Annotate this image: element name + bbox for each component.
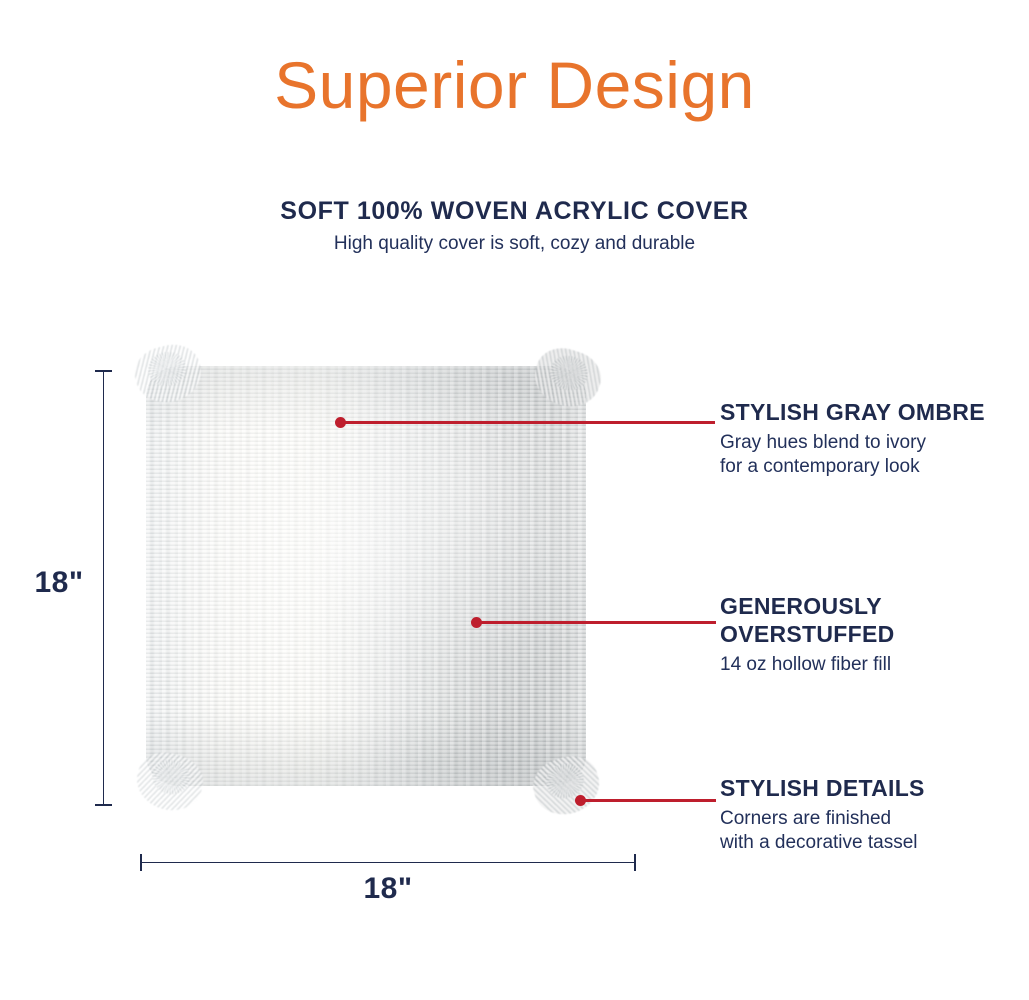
infographic-page: Superior Design SOFT 100% WOVEN ACRYLIC … [0, 0, 1029, 1000]
callout-description-line: for a contemporary look [720, 455, 1020, 479]
callout-leader-line-3 [581, 799, 716, 802]
pillow-body [146, 366, 586, 786]
callout-title: GENEROUSLY OVERSTUFFED [720, 592, 1020, 648]
callout-gray-ombre: STYLISH GRAY OMBRE Gray hues blend to iv… [720, 398, 1020, 479]
callout-point-dot [335, 417, 346, 428]
callout-overstuffed: GENEROUSLY OVERSTUFFED 14 oz hollow fibe… [720, 592, 1020, 677]
width-dimension-line [140, 862, 636, 863]
callout-description: Corners are finished with a decorative t… [720, 807, 1020, 855]
width-dimension-label: 18" [140, 872, 636, 906]
callout-leader-line-1 [341, 421, 715, 424]
height-dimension-label: 18" [24, 566, 94, 600]
callout-description-line: with a decorative tassel [720, 831, 1020, 855]
callout-point-dot [575, 795, 586, 806]
callout-description-line: Gray hues blend to ivory [720, 431, 1020, 455]
product-image [126, 330, 606, 830]
callout-leader-line-2 [477, 621, 716, 624]
height-dimension-line [103, 370, 104, 806]
callout-description: Gray hues blend to ivory for a contempor… [720, 431, 1020, 479]
feature-description: High quality cover is soft, cozy and dur… [0, 233, 1029, 256]
callout-description-line: Corners are finished [720, 807, 1020, 831]
pillow-shading [146, 366, 586, 786]
pillow-weave-texture [146, 366, 586, 786]
page-title: Superior Design [0, 52, 1029, 118]
callout-point-dot [471, 617, 482, 628]
callout-description-line: 14 oz hollow fiber fill [720, 653, 1020, 677]
pillow-rib-texture [146, 366, 586, 786]
callout-title: STYLISH DETAILS [720, 774, 1020, 802]
callout-description: 14 oz hollow fiber fill [720, 653, 1020, 677]
callout-title: STYLISH GRAY OMBRE [720, 398, 1020, 426]
callout-stylish-details: STYLISH DETAILS Corners are finished wit… [720, 774, 1020, 855]
feature-headline: SOFT 100% WOVEN ACRYLIC COVER [0, 198, 1029, 226]
